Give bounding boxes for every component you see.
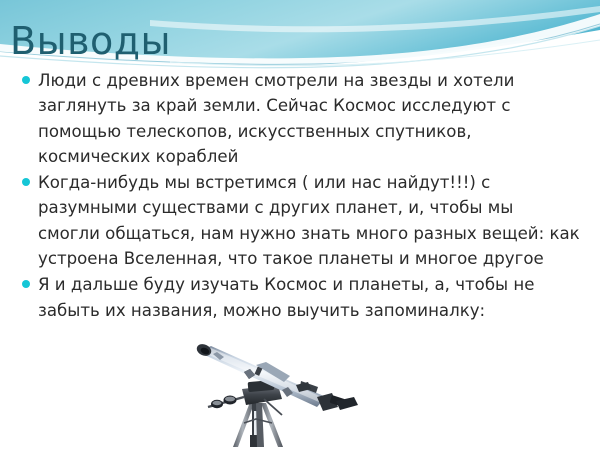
list-item: Когда-нибудь мы встретимся ( или нас най… [20,170,580,271]
bullet-list: Люди с древних времен смотрели на звезды… [20,68,580,324]
tripod-leg-right [261,403,283,447]
page-title: Выводы [10,22,171,62]
wave-band-secondary [330,26,600,68]
list-item-text: Когда-нибудь мы встретимся ( или нас най… [38,173,580,268]
wave-line-soft-2 [170,40,600,66]
list-item-text: Люди с древних времен смотрели на звезды… [38,71,514,166]
counterweight-2-highlight [213,401,222,405]
presentation-slide: Выводы Люди с древних времен смотрели на… [0,0,600,450]
bullet-dot-icon [22,76,30,84]
telescope-illustration [186,341,391,450]
bullet-dot-icon [22,178,30,186]
list-item-text: Я и дальше буду изучать Космос и планеты… [38,275,535,319]
list-item: Я и дальше буду изучать Космос и планеты… [20,272,580,323]
telescope-image [186,341,391,450]
counterweight-1-highlight [225,397,235,402]
bullet-dot-icon [22,280,30,288]
tripod-leg-center [256,403,264,447]
wave-swoosh-white-2 [150,6,600,32]
list-item: Люди с древних времен смотрели на звезды… [20,68,580,169]
